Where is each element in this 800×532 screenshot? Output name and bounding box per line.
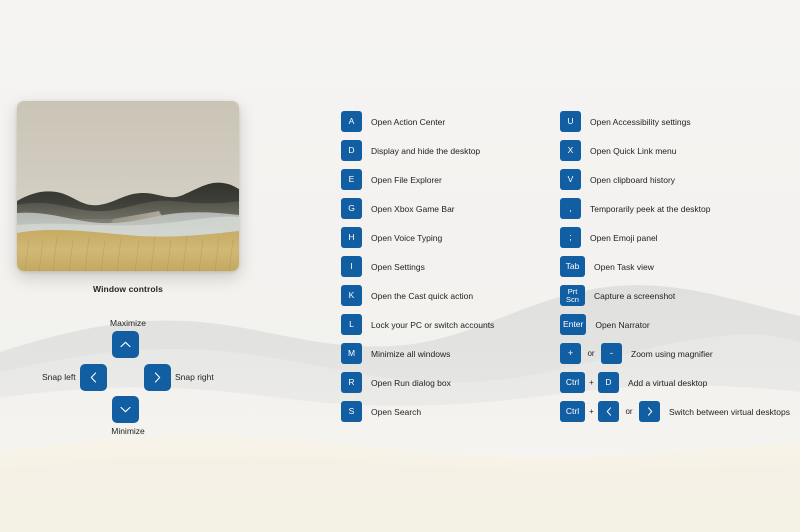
shortcut-description: Add a virtual desktop <box>628 378 707 388</box>
shortcut-description: Open Voice Typing <box>371 233 442 243</box>
wallpaper-thumbnail <box>17 101 239 271</box>
key-tab[interactable]: Tab <box>560 256 585 277</box>
key--[interactable]: - <box>601 343 622 364</box>
shortcut-row: ,Temporarily peek at the desktop <box>560 194 790 223</box>
shortcut-row: SOpen Search <box>341 397 494 426</box>
key-prt-scn[interactable]: PrtScn <box>560 285 585 306</box>
shortcut-row: EOpen File Explorer <box>341 165 494 194</box>
key-d[interactable]: D <box>598 372 619 393</box>
shortcut-row: HOpen Voice Typing <box>341 223 494 252</box>
shortcut-row: VOpen clipboard history <box>560 165 790 194</box>
key-x[interactable]: X <box>560 140 581 161</box>
key-g[interactable]: G <box>341 198 362 219</box>
key-e[interactable]: E <box>341 169 362 190</box>
key-ctrl[interactable]: Ctrl <box>560 372 585 393</box>
shortcut-row: TabOpen Task view <box>560 252 790 281</box>
minimize-button[interactable] <box>112 396 139 423</box>
shortcut-description: Open Narrator <box>595 320 649 330</box>
window-controls-title: Window controls <box>0 284 256 294</box>
chevron-left-icon <box>606 407 612 416</box>
chevron-left-icon <box>90 372 97 383</box>
key-k[interactable]: K <box>341 285 362 306</box>
key-<[interactable] <box>598 401 619 422</box>
shortcut-description: Open Accessibility settings <box>590 117 691 127</box>
shortcut-row: MMinimize all windows <box>341 339 494 368</box>
key-,[interactable]: , <box>560 198 581 219</box>
chevron-right-icon <box>647 407 653 416</box>
shortcut-description: Zoom using magnifier <box>631 349 713 359</box>
shortcut-row: XOpen Quick Link menu <box>560 136 790 165</box>
shortcut-description: Open Run dialog box <box>371 378 451 388</box>
shortcut-row: LLock your PC or switch accounts <box>341 310 494 339</box>
key-;[interactable]: ; <box>560 227 581 248</box>
shortcut-description: Switch between virtual desktops <box>669 407 790 417</box>
key-a[interactable]: A <box>341 111 362 132</box>
separator-plus: + <box>585 378 598 387</box>
shortcut-row: Ctrl+DAdd a virtual desktop <box>560 368 790 397</box>
chevron-up-icon <box>120 341 131 348</box>
shortcut-description: Temporarily peek at the desktop <box>590 204 710 214</box>
shortcut-description: Minimize all windows <box>371 349 450 359</box>
shortcut-description: Open clipboard history <box>590 175 675 185</box>
separator-or: or <box>581 349 601 358</box>
shortcut-description: Open Task view <box>594 262 654 272</box>
key-u[interactable]: U <box>560 111 581 132</box>
key-h[interactable]: H <box>341 227 362 248</box>
shortcut-row: EnterOpen Narrator <box>560 310 790 339</box>
snap-left-label: Snap left <box>42 372 76 382</box>
key-s[interactable]: S <box>341 401 362 422</box>
chevron-right-icon <box>154 372 161 383</box>
window-controls-diagram: Window controls Maximize Minimize Snap l… <box>0 284 256 440</box>
shortcuts-column-left: AOpen Action CenterDDisplay and hide the… <box>341 107 494 426</box>
shortcut-row: IOpen Settings <box>341 252 494 281</box>
key-enter[interactable]: Enter <box>560 314 586 335</box>
separator-or: or <box>619 407 639 416</box>
key-i[interactable]: I <box>341 256 362 277</box>
shortcut-row: KOpen the Cast quick action <box>341 281 494 310</box>
shortcut-row: DDisplay and hide the desktop <box>341 136 494 165</box>
chevron-down-icon <box>120 406 131 413</box>
maximize-button[interactable] <box>112 331 139 358</box>
minimize-label: Minimize <box>0 426 256 436</box>
shortcut-row: UOpen Accessibility settings <box>560 107 790 136</box>
shortcut-description: Open Emoji panel <box>590 233 658 243</box>
shortcut-description: Capture a screenshot <box>594 291 675 301</box>
key-d[interactable]: D <box>341 140 362 161</box>
shortcut-description: Open Settings <box>371 262 425 272</box>
key->[interactable] <box>639 401 660 422</box>
shortcut-row: Ctrl+orSwitch between virtual desktops <box>560 397 790 426</box>
shortcut-row: ;Open Emoji panel <box>560 223 790 252</box>
key-r[interactable]: R <box>341 372 362 393</box>
shortcut-row: GOpen Xbox Game Bar <box>341 194 494 223</box>
shortcut-row: ROpen Run dialog box <box>341 368 494 397</box>
maximize-label: Maximize <box>0 318 256 328</box>
shortcut-description: Open Search <box>371 407 421 417</box>
snap-right-label: Snap right <box>175 372 214 382</box>
shortcut-description: Open Xbox Game Bar <box>371 204 455 214</box>
key-v[interactable]: V <box>560 169 581 190</box>
shortcut-row: +or-Zoom using magnifier <box>560 339 790 368</box>
shortcut-description: Open the Cast quick action <box>371 291 473 301</box>
key-m[interactable]: M <box>341 343 362 364</box>
shortcut-description: Display and hide the desktop <box>371 146 480 156</box>
key-l[interactable]: L <box>341 314 362 335</box>
shortcuts-column-right: UOpen Accessibility settingsXOpen Quick … <box>560 107 790 426</box>
separator-plus: + <box>585 407 598 416</box>
shortcut-description: Open Quick Link menu <box>590 146 676 156</box>
key-ctrl[interactable]: Ctrl <box>560 401 585 422</box>
key-+[interactable]: + <box>560 343 581 364</box>
shortcut-description: Open Action Center <box>371 117 445 127</box>
shortcut-description: Lock your PC or switch accounts <box>371 320 494 330</box>
shortcut-description: Open File Explorer <box>371 175 442 185</box>
snap-right-button[interactable] <box>144 364 171 391</box>
shortcut-row: AOpen Action Center <box>341 107 494 136</box>
snap-left-button[interactable] <box>80 364 107 391</box>
shortcut-row: PrtScnCapture a screenshot <box>560 281 790 310</box>
